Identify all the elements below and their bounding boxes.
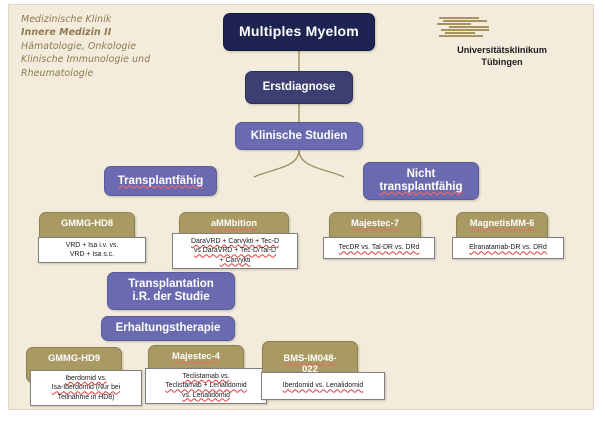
logo-caption-line-2: Tübingen (427, 56, 577, 68)
detail-line-2: Isa-Iberdomid (Nur bei (52, 383, 121, 392)
detail-line-1: Teclistamab vs. (182, 372, 229, 381)
slide-canvas: Medizinische Klinik Innere Medizin II Hä… (8, 4, 594, 410)
detail-line-1: Elranatamab-DR vs. DRd (469, 243, 547, 252)
node-nicht-transplantfaehig[interactable]: Nicht transplantfähig (363, 162, 479, 200)
clinic-header: Medizinische Klinik Innere Medizin II Hä… (21, 13, 211, 80)
trial-name: GMMG-HD8 (61, 218, 113, 229)
detail-line-1: TecDR vs. Tal-DR vs. DRd (339, 243, 420, 252)
node-label-line-2: transplantfähig (379, 181, 462, 194)
node-label-line-1: Transplantation (128, 278, 214, 291)
node-transplantation[interactable]: Transplantation i.R. der Studie (107, 272, 235, 310)
trial-name: Majestec-4 (172, 351, 220, 362)
detail-line-1: VRD + Isa i.v. vs. (66, 241, 119, 250)
trial-name-line-1: BMS-IM048- (283, 353, 336, 364)
trial-detail-majestec-4: Teclistamab vs. Teclistamab + Lenalidomi… (145, 368, 267, 404)
university-logo: Universitätsklinikum Tübingen (427, 15, 577, 68)
trial-detail-ammbition: DaraVRD + Carvykti + Tec-D vs DaraVRD + … (172, 233, 298, 269)
node-label-line-2: i.R. der Studie (132, 291, 209, 304)
node-multiples-myelom[interactable]: Multiples Myelom (223, 13, 375, 51)
trial-detail-gmmg-hd8: VRD + Isa i.v. vs. VRD + Isa s.c. (38, 237, 146, 263)
detail-line-3: + Carvykti (220, 256, 251, 265)
logo-caption-line-1: Universitätsklinikum (427, 44, 577, 56)
detail-line-3: vs. Lenalidomid (182, 391, 230, 400)
node-klinische-studien[interactable]: Klinische Studien (235, 122, 363, 150)
clinic-line-4: Klinische Immunologie und (21, 53, 211, 66)
node-label-line-1: Nicht (407, 168, 436, 181)
trial-detail-majestec-7: TecDR vs. Tal-DR vs. DRd (323, 237, 435, 259)
clinic-line-5: Rheumatologie (21, 67, 211, 80)
node-label: Transplantfähig (118, 175, 204, 188)
detail-line-1: Iberdomid vs. (65, 374, 106, 383)
detail-line-3: Teilnahme in HD8) (58, 393, 115, 402)
detail-line-1: Iberdomid vs. Lenalidomid (283, 381, 363, 390)
clinic-line-2: Innere Medizin II (21, 26, 211, 39)
node-label: Klinische Studien (251, 130, 348, 143)
detail-line-2: Teclistamab + Lenalidomid (165, 381, 246, 390)
clinic-line-3: Hämatologie, Onkologie (21, 40, 211, 53)
detail-line-2: VRD + Isa s.c. (70, 250, 114, 259)
node-erhaltungstherapie[interactable]: Erhaltungstherapie (101, 316, 235, 341)
clinic-line-1: Medizinische Klinik (21, 13, 211, 26)
node-transplantfaehig[interactable]: Transplantfähig (104, 166, 217, 196)
detail-line-2: vs DaraVRD + Tec-D/Tal-D (194, 246, 276, 255)
node-erstdiagnose[interactable]: Erstdiagnose (245, 71, 353, 104)
striped-bars-logo-icon (435, 15, 495, 41)
trial-name: GMMG-HD9 (48, 353, 100, 364)
node-label: Multiples Myelom (239, 24, 359, 40)
trial-name: MagnetisMM-6 (470, 218, 535, 229)
trial-name: aMMbition (211, 218, 257, 229)
trial-detail-gmmg-hd9: Iberdomid vs. Isa-Iberdomid (Nur bei Tei… (30, 370, 142, 406)
node-label: Erhaltungstherapie (116, 322, 221, 335)
trial-name: Majestec-7 (351, 218, 399, 229)
logo-caption: Universitätsklinikum Tübingen (427, 44, 577, 68)
detail-line-1: DaraVRD + Carvykti + Tec-D (191, 237, 279, 246)
node-label: Erstdiagnose (263, 81, 336, 94)
trial-detail-bms-im048-022: Iberdomid vs. Lenalidomid (261, 372, 385, 400)
trial-detail-magnetismm-6: Elranatamab-DR vs. DRd (452, 237, 564, 259)
